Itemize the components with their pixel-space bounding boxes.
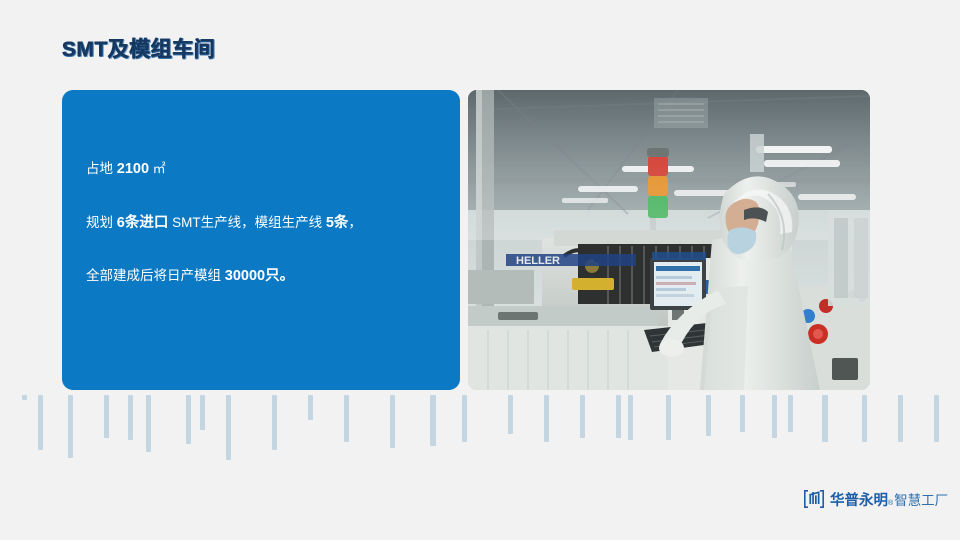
info-line-lines: 规划 6条进口 SMT生产线，模组生产线 5条， [86,216,444,231]
decorative-bar [772,395,777,438]
decorative-bar [666,395,671,440]
decorative-bar-pattern [0,395,960,540]
decorative-bar [186,395,191,444]
decorative-bar [344,395,349,442]
info-line-output-value: 30000只。 [225,268,294,284]
decorative-bar [430,395,436,446]
decorative-bar [226,395,231,460]
logo-registered-mark: ® [888,500,893,507]
decorative-bar [104,395,109,438]
info-panel-text-block: 占地 2100 ㎡ 规划 6条进口 SMT生产线，模组生产线 5条， 全部建成后… [86,162,444,284]
decorative-bar [616,395,621,438]
info-line-lines-mid: SMT生产线，模组生产线 [168,215,326,230]
info-line-area-value: 2100 [117,161,149,177]
logo-mark-icon [803,489,825,509]
logo-brand-text: 华普永明 [830,489,888,510]
decorative-bar [272,395,277,450]
info-line-output: 全部建成后将日产模组 30000只。 [86,269,444,284]
info-line-area-pre: 占地 [86,161,117,176]
info-line-lines-value2: 5条 [326,215,349,231]
logo-sub-text: 智慧工厂 [894,489,948,509]
decorative-bar [22,395,27,400]
decorative-bar [146,395,151,452]
workshop-photo-illustration: HELLER [468,90,870,390]
decorative-bar [544,395,549,442]
decorative-bar [788,395,793,432]
decorative-bar [898,395,903,442]
info-line-lines-value1: 6条进口 [117,215,169,231]
decorative-bar [38,395,43,450]
decorative-bar [580,395,585,438]
decorative-bar [628,395,633,440]
logo-wordmark: 华普永明®智慧工厂 [830,489,948,510]
info-line-lines-pre: 规划 [86,215,117,230]
info-line-area: 占地 2100 ㎡ [86,162,444,177]
slide-canvas: SMT及模组车间 占地 2100 ㎡ 规划 6条进口 SMT生产线，模组生产线 … [0,0,960,540]
decorative-bar [934,395,939,442]
decorative-bar [508,395,513,434]
decorative-bar [862,395,867,442]
info-panel: 占地 2100 ㎡ 规划 6条进口 SMT生产线，模组生产线 5条， 全部建成后… [62,90,460,390]
decorative-bar [390,395,395,448]
info-line-output-pre: 全部建成后将日产模组 [86,268,225,283]
workshop-photo: HELLER [468,90,870,390]
decorative-bar [308,395,313,420]
decorative-bar [822,395,828,442]
info-line-area-unit: ㎡ [149,161,166,176]
decorative-bar [740,395,745,432]
info-line-lines-post: ， [348,215,362,230]
brand-logo: 华普永明®智慧工厂 [803,487,948,511]
decorative-bar [200,395,205,430]
decorative-bar [706,395,711,436]
decorative-bar [68,395,73,458]
decorative-bar [462,395,467,442]
decorative-bar [128,395,133,440]
page-title: SMT及模组车间 [62,33,215,63]
